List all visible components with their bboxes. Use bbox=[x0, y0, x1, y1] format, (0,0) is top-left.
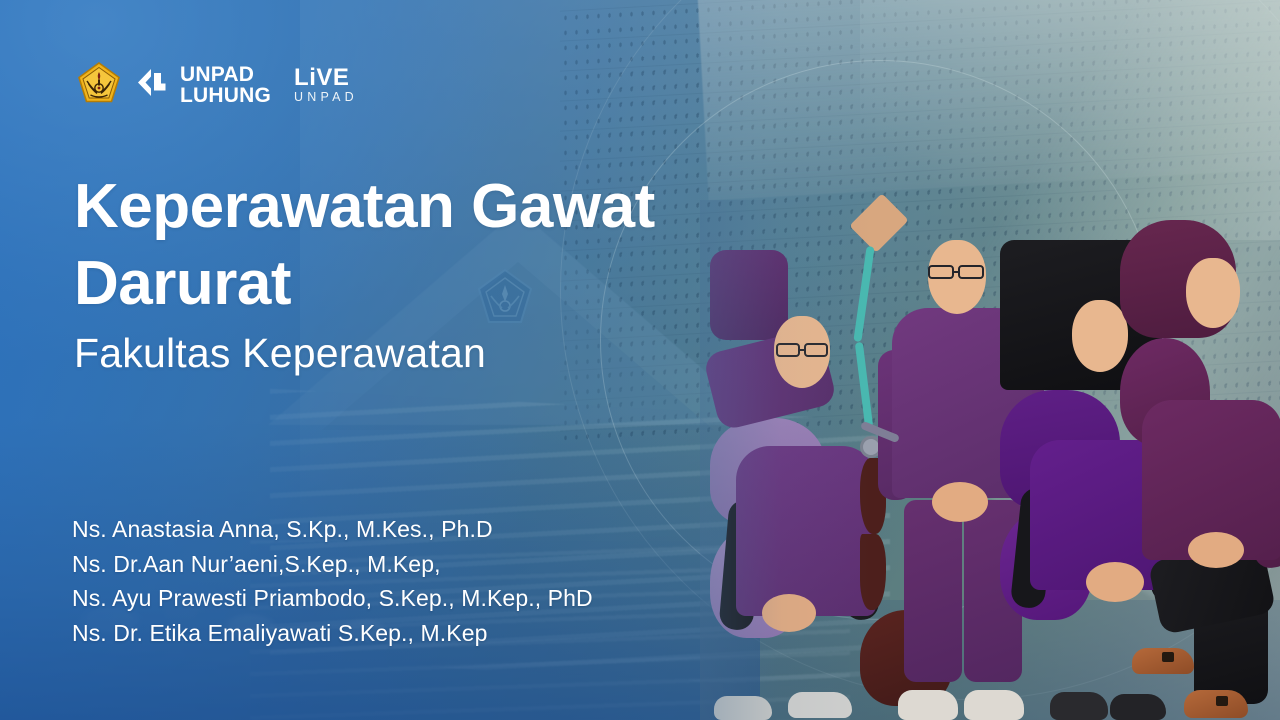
list-item: Ns. Dr. Etika Emaliyawati S.Kep., M.Kep bbox=[72, 616, 752, 651]
page-title: Keperawatan Gawat Darurat bbox=[74, 168, 834, 322]
page-subtitle: Fakultas Keperawatan bbox=[74, 328, 834, 378]
unpad-luhung-logo[interactable]: UNPAD LUHUNG bbox=[134, 64, 271, 106]
eyeglasses-icon bbox=[928, 264, 986, 280]
live-sub-wordmark: UNPAD bbox=[294, 90, 358, 104]
person-nurse-plum-hijab bbox=[1120, 220, 1280, 720]
list-item: Ns. Anastasia Anna, S.Kp., M.Kes., Ph.D bbox=[72, 512, 752, 547]
brand-logo-lockup[interactable]: UNPAD LUHUNG LiVE UNPAD bbox=[78, 62, 358, 107]
luhung-line-1: UNPAD bbox=[180, 64, 271, 85]
headline-block: Keperawatan Gawat Darurat Fakultas Keper… bbox=[74, 168, 834, 378]
luhung-wordmark: UNPAD LUHUNG bbox=[180, 64, 271, 106]
live-wordmark: LiVE bbox=[294, 66, 358, 89]
presentation-slide: UNPAD LUHUNG LiVE UNPAD Keperawatan Gawa… bbox=[0, 0, 1280, 720]
luhung-chevron-icon bbox=[134, 67, 170, 103]
list-item: Ns. Ayu Prawesti Priambodo, S.Kep., M.Ke… bbox=[72, 581, 752, 616]
luhung-line-2: LUHUNG bbox=[180, 85, 271, 106]
unpad-crest-icon bbox=[78, 62, 120, 107]
live-unpad-logo[interactable]: LiVE UNPAD bbox=[294, 66, 358, 104]
presenter-list: Ns. Anastasia Anna, S.Kp., M.Kes., Ph.D … bbox=[72, 512, 752, 650]
list-item: Ns. Dr.Aan Nur’aeni,S.Kep., M.Kep, bbox=[72, 547, 752, 582]
